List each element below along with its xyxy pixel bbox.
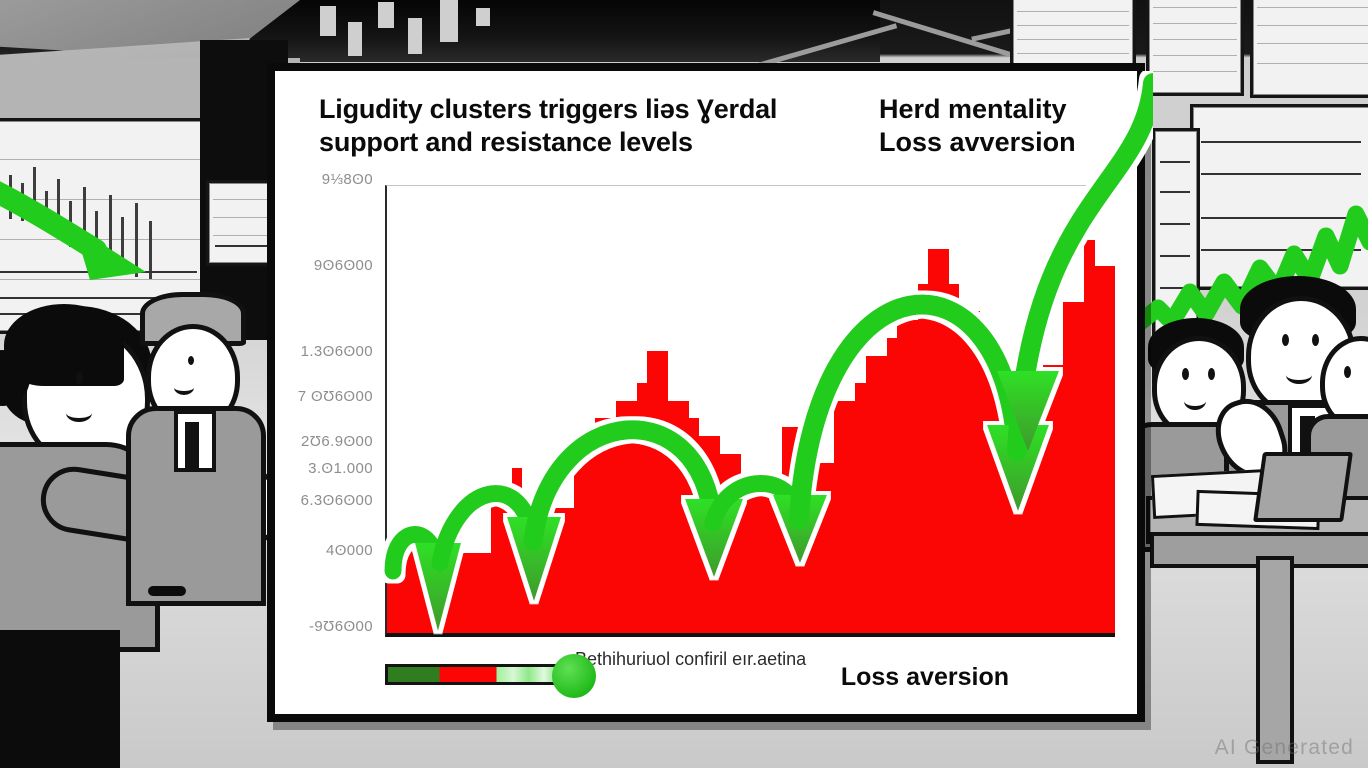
bar [668,401,678,633]
plot-area [385,185,1115,637]
annotation-herd-loss: Herd mentality Loss avversion [879,93,1109,159]
bar [1043,365,1053,633]
bar [460,553,470,633]
sentiment-slider[interactable] [385,660,590,688]
screenshot-root: AI Generated Ligudity clusters triggers … [0,0,1368,768]
page-title-line1: Ligudity clusters triggers liəs Ɣerdal [319,93,879,126]
footer-loss-aversion-label: Loss aversion [841,663,1009,692]
bar [741,490,751,633]
y-axis-tick-label: -9Ʊ6ʘ00 [309,618,373,635]
bar [658,351,668,633]
annotation-herd-mentality: Herd mentality [879,93,1109,126]
bar [491,499,501,633]
bar [834,401,844,633]
bar [720,454,730,633]
bar [907,320,917,633]
bar [595,418,605,633]
bar [845,401,855,633]
bar [387,539,397,633]
bar [939,249,949,633]
ceiling-candles [300,0,720,58]
x-axis-caption: Bethihuriuol confiril eır.aetina [575,649,806,670]
bar [866,356,876,633]
declining-green-arrow [0,168,183,298]
bar [730,454,740,633]
bar [855,383,865,633]
bar [1011,410,1021,634]
bar [429,539,439,633]
bar [678,401,688,633]
bar [782,427,792,633]
bar [554,508,564,633]
bar [1001,410,1011,634]
y-axis-tick-label: 4ʘ000 [326,542,373,559]
bar [616,401,626,633]
bar [751,490,761,633]
watermark: AI Generated [1215,736,1354,760]
bar [928,249,938,633]
bar [876,356,886,633]
bar [980,347,990,633]
bar [501,499,511,633]
bar [1032,427,1042,633]
bar [397,539,407,633]
bar [1095,266,1105,633]
bar [626,401,636,633]
bar [689,418,699,633]
bar [585,454,595,633]
bar [772,481,782,633]
bar [814,463,824,633]
y-axis-tick-label: 1.3ʘ6ʘ00 [301,343,373,360]
slider-knob[interactable] [552,654,596,698]
bar [970,311,980,633]
bar [522,535,532,633]
bar [949,284,959,633]
bar [564,508,574,633]
page-title-line2: support and resistance levels [319,126,879,159]
bar [918,284,928,633]
bar [408,539,418,633]
bar [574,454,584,633]
bar [959,311,969,633]
bar [803,463,813,633]
bar [418,539,428,633]
bar-series [387,186,1115,633]
bar [897,320,907,633]
y-axis-tick-label: 3.ʘ1.000 [308,460,373,477]
bar [1053,365,1063,633]
chart-panel: Ligudity clusters triggers liəs Ɣerdal s… [267,63,1145,722]
y-axis-tick-label: 9⅓8ʘ0 [322,171,373,188]
bar [470,553,480,633]
wall-chart-right-top-3 [1250,0,1368,98]
bar [793,427,803,633]
bar [647,351,657,633]
bar [1084,240,1094,633]
bar [606,418,616,633]
bar [1074,302,1084,633]
bar [699,436,709,633]
bar [449,553,459,633]
bar [481,553,491,633]
bar [1105,266,1115,633]
bar [533,535,543,633]
y-axis-tick-label: 6.3ʘ6ʘ00 [301,492,373,509]
desk-leg [1256,556,1294,764]
wall-chart-right-top-2 [1146,0,1244,96]
bar [991,347,1001,633]
laptop [1253,452,1353,522]
bar [762,481,772,633]
bar [637,383,647,633]
y-axis-tick-label: 2Ʊ6.9ʘ00 [301,433,373,450]
annotation-loss-aversion: Loss avversion [879,126,1109,159]
bar [887,338,897,633]
y-axis-tick-label: 7 ʘƱ6ʘ00 [298,388,373,405]
bar [1022,427,1032,633]
y-axis-ticklabels: 9⅓8ʘ09ʘ6ʘ001.3ʘ6ʘ007 ʘƱ6ʘ002Ʊ6.9ʘ003.ʘ1.… [275,179,381,639]
y-axis-tick-label: 9ʘ6ʘ00 [314,257,373,274]
bar [512,468,522,633]
page-title: Ligudity clusters triggers liəs Ɣerdal s… [319,93,879,159]
bar [1063,302,1073,633]
bar [824,463,834,633]
bar [439,553,449,633]
bar [543,526,553,633]
bar [710,436,720,633]
